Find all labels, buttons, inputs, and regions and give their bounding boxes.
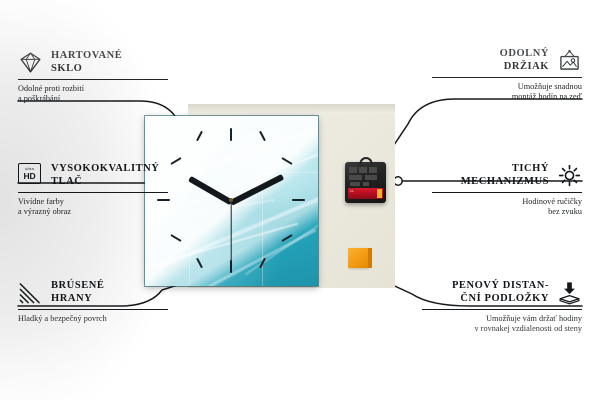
feature-title: BRÚSENÉHRANY <box>51 280 104 305</box>
feature-subtitle: Umožňuje snadnoumontáž hodín na zeď <box>432 82 582 103</box>
foam-spacer-pad <box>348 248 368 268</box>
battery-positive-terminal <box>377 189 382 198</box>
feature-header: HARTOVANÉSKLO <box>18 50 168 75</box>
feature-divider <box>432 192 582 193</box>
wall-clock <box>145 116 318 286</box>
foam-spacer-icon <box>557 280 582 305</box>
wire-wall-mount <box>390 99 582 151</box>
feature-title: HARTOVANÉSKLO <box>51 50 122 75</box>
feature-beveled-edges: BRÚSENÉHRANY Hladký a bezpečný povrch <box>18 280 168 324</box>
feature-divider <box>18 309 168 310</box>
beveled-edges-icon <box>18 280 43 305</box>
feature-foam-spacers: PENOVÝ DISTAN-ČNÍ PODLOŽKY Umožňuje vám … <box>422 280 582 335</box>
battery-label: AA <box>350 190 354 193</box>
foam-spacer-pad-side <box>368 248 372 268</box>
feature-title: VYSOKOKVALITNÝTLAČ <box>51 163 159 188</box>
feature-title: TICHÝMECHANIZMUS <box>461 163 549 188</box>
product-infographic: AA <box>0 0 600 400</box>
feature-header: ODOLNÝDRŽIAK <box>432 48 582 73</box>
feature-title: ODOLNÝDRŽIAK <box>500 48 549 73</box>
feature-wall-mount: ODOLNÝDRŽIAK Umožňuje snadnoumontáž hodí… <box>432 48 582 103</box>
feature-tempered-glass: HARTOVANÉSKLO Odolné proti rozbitía pošk… <box>18 50 168 105</box>
gear-icon <box>557 163 582 188</box>
feature-header: TICHÝMECHANIZMUS <box>432 163 582 188</box>
feature-subtitle: Hladký a bezpečný povrch <box>18 314 168 325</box>
feature-header: PENOVÝ DISTAN-ČNÍ PODLOŽKY <box>422 280 582 305</box>
feature-subtitle: Odolné proti rozbitía poškrábání <box>18 84 168 105</box>
feature-header: ultra HD VYSOKOKVALITNÝTLAČ <box>18 163 168 188</box>
product-photo: AA <box>145 108 395 293</box>
tick-12 <box>230 128 232 141</box>
feature-print-quality: ultra HD VYSOKOKVALITNÝTLAČ Vivídne farb… <box>18 163 168 218</box>
feature-divider <box>18 79 168 80</box>
ultra-hd-badge-icon: ultra HD <box>18 163 43 188</box>
hands-center-cap <box>229 198 233 202</box>
hd-label: HD <box>24 172 36 181</box>
feature-divider <box>432 77 582 78</box>
feature-divider <box>18 192 168 193</box>
feature-title: PENOVÝ DISTAN-ČNÍ PODLOŽKY <box>452 280 549 305</box>
clock-mechanism: AA <box>345 162 386 203</box>
hanging-picture-frame-icon <box>557 48 582 73</box>
feature-divider <box>422 309 582 310</box>
feature-header: BRÚSENÉHRANY <box>18 280 168 305</box>
battery: AA <box>348 188 383 199</box>
background-panel-top-edge <box>188 104 395 114</box>
diamond-icon <box>18 50 43 75</box>
node-silent-mechanism[interactable] <box>394 177 402 185</box>
mechanism-hanger-icon <box>359 157 372 166</box>
feature-silent-mechanism: TICHÝMECHANIZMUS Hodinové ručičkybez zvu… <box>432 163 582 218</box>
feature-subtitle: Hodinové ručičkybez zvuku <box>432 197 582 218</box>
feature-subtitle: Vivídne farbya výrazný obraz <box>18 197 168 218</box>
feature-subtitle: Umožňuje vám držať hodinyv rovnakej vzdi… <box>422 314 582 335</box>
second-hand <box>230 201 231 263</box>
